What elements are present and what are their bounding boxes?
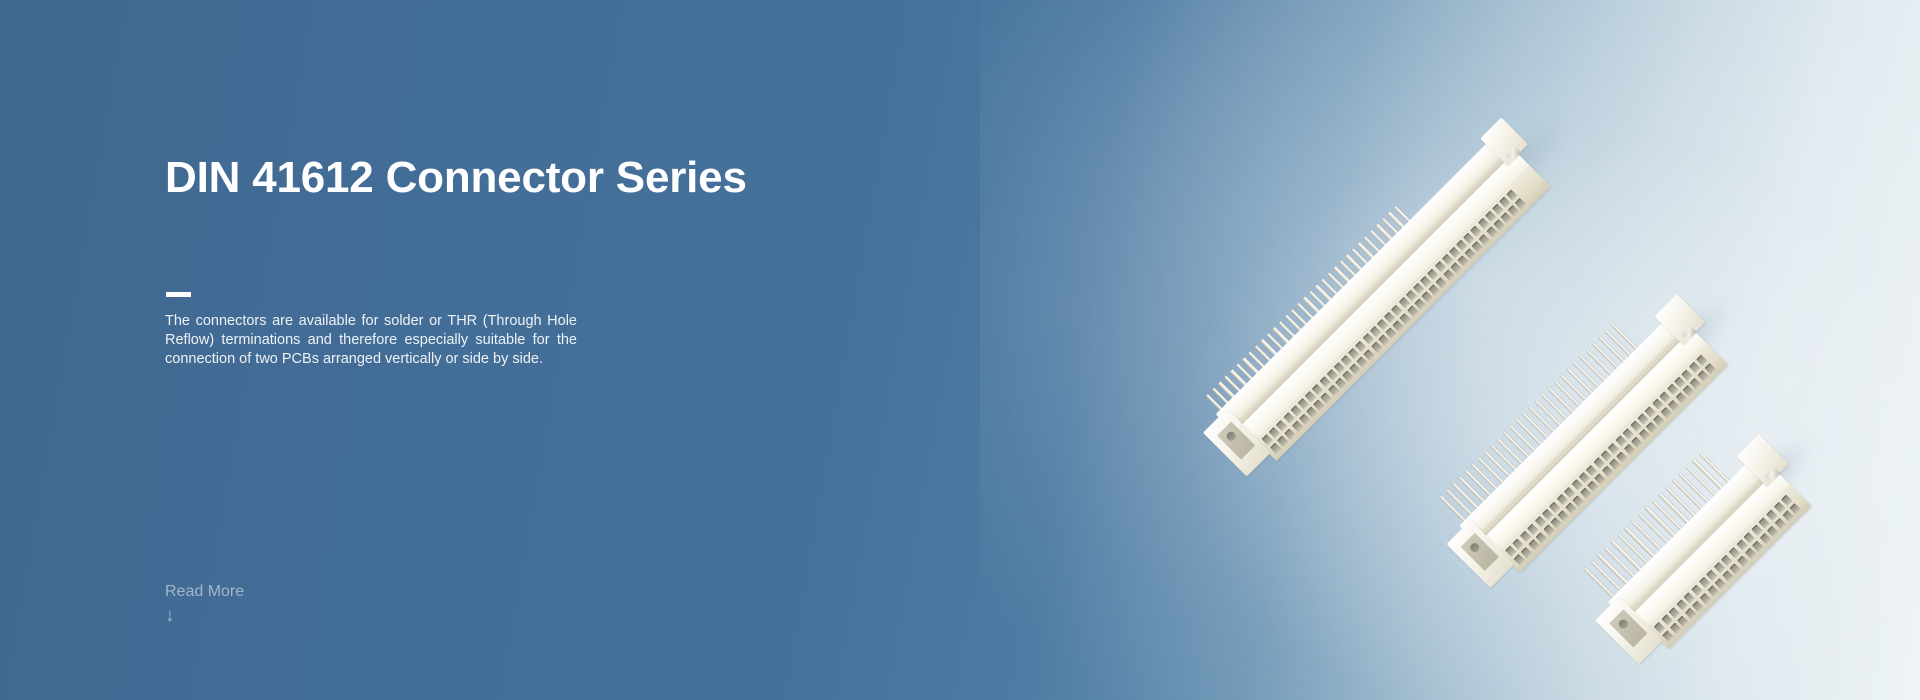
socket-hole: [1572, 495, 1583, 506]
rail-edge: [1229, 149, 1513, 433]
socket-hole: [1508, 205, 1519, 216]
socket-hole: [1661, 614, 1672, 625]
socket-hole: [1700, 593, 1711, 604]
socket-hole: [1684, 592, 1695, 603]
socket-hole: [1593, 457, 1604, 468]
socket-hole: [1543, 525, 1554, 536]
socket-hole: [1580, 488, 1591, 499]
socket-hole: [1306, 407, 1317, 418]
socket-hole: [1398, 297, 1409, 308]
socket-hole: [1299, 414, 1310, 425]
socket-hole: [1677, 615, 1688, 626]
socket-hole: [1362, 333, 1373, 344]
socket-hole: [1283, 413, 1294, 424]
socket-hole: [1312, 384, 1323, 395]
socket-hole: [1645, 406, 1656, 417]
housing-top-face: [1241, 151, 1529, 439]
socket-hole: [1615, 435, 1626, 446]
socket-hole: [1435, 261, 1446, 272]
socket-hole: [1699, 577, 1710, 588]
socket-hole: [1689, 362, 1700, 373]
socket-hole: [1685, 608, 1696, 619]
socket-hole: [1781, 495, 1792, 506]
socket-hole: [1654, 622, 1665, 633]
socket-hole: [1357, 356, 1368, 367]
socket-hole: [1393, 320, 1404, 331]
socket-hole: [1505, 546, 1516, 557]
socket-hole: [1536, 532, 1547, 543]
socket-hole: [1729, 547, 1740, 558]
socket-hole: [1662, 630, 1673, 641]
socket-hole: [1667, 384, 1678, 395]
socket-hole: [1436, 277, 1447, 288]
socket-hole: [1669, 607, 1680, 618]
socket-hole: [1696, 355, 1707, 366]
socket-hole: [1290, 405, 1301, 416]
socket-hole: [1457, 255, 1468, 266]
socket-hole: [1682, 369, 1693, 380]
socket-hole: [1406, 290, 1417, 301]
socket-hole: [1334, 362, 1345, 373]
socket-hole: [1751, 525, 1762, 536]
socket-hole: [1298, 398, 1309, 409]
socket-hole: [1507, 189, 1518, 200]
read-more-link[interactable]: Read More ↓: [165, 582, 325, 627]
socket-hole: [1674, 377, 1685, 388]
socket-hole: [1565, 503, 1576, 514]
socket-hole: [1341, 355, 1352, 366]
socket-hole: [1499, 196, 1510, 207]
socket-hole: [1730, 563, 1741, 574]
socket-hole: [1691, 585, 1702, 596]
socket-hole: [1313, 399, 1324, 410]
socket-hole: [1527, 524, 1538, 535]
hero-description: The connectors are available for solder …: [165, 312, 577, 369]
socket-hole: [1571, 479, 1582, 490]
socket-hole: [1407, 306, 1418, 317]
socket-hole: [1602, 466, 1613, 477]
socket-hole: [1646, 422, 1657, 433]
socket-hole: [1790, 503, 1801, 514]
read-more-label: Read More: [165, 582, 325, 602]
socket-hole: [1449, 247, 1460, 258]
arrow-down-icon: ↓: [165, 605, 325, 627]
socket-hole: [1456, 240, 1467, 251]
socket-hole: [1631, 436, 1642, 447]
socket-hole: [1752, 541, 1763, 552]
socket-hole: [1659, 391, 1670, 402]
socket-hole: [1707, 586, 1718, 597]
socket-hole: [1269, 427, 1280, 438]
socket-hole: [1528, 539, 1539, 550]
socket-hole: [1737, 556, 1748, 567]
socket-hole: [1535, 516, 1546, 527]
socket-hole: [1443, 270, 1454, 281]
socket-hole: [1478, 218, 1489, 229]
socket-hole: [1442, 254, 1453, 265]
socket-hole: [1579, 472, 1590, 483]
socket-hole: [1683, 385, 1694, 396]
socket-hole: [1400, 313, 1411, 324]
socket-hole: [1328, 385, 1339, 396]
socket-hole: [1630, 421, 1641, 432]
socket-hole: [1471, 225, 1482, 236]
socket-hole: [1262, 434, 1273, 445]
hero-copy: DIN 41612 Connector Series The connector…: [165, 0, 685, 700]
socket-hole: [1558, 510, 1569, 521]
socket-hole: [1377, 319, 1388, 330]
socket-hole: [1292, 421, 1303, 432]
socket-hole: [1767, 526, 1778, 537]
socket-hole: [1270, 443, 1281, 454]
socket-hole: [1586, 465, 1597, 476]
socket-hole: [1745, 548, 1756, 559]
socket-hole: [1775, 518, 1786, 529]
socket-hole: [1521, 547, 1532, 558]
socket-hole: [1319, 377, 1330, 388]
socket-hole: [1722, 571, 1733, 582]
socket-hole: [1692, 600, 1703, 611]
socket-hole: [1378, 335, 1389, 346]
socket-hole: [1472, 241, 1483, 252]
socket-hole: [1623, 428, 1634, 439]
socket-hole: [1595, 473, 1606, 484]
socket-hole: [1652, 399, 1663, 410]
socket-hole: [1371, 342, 1382, 353]
socket-hole: [1513, 538, 1524, 549]
socket-hole: [1721, 555, 1732, 566]
connector-large-housing: [1241, 151, 1551, 461]
socket-hole: [1429, 284, 1440, 295]
socket-hole: [1385, 327, 1396, 338]
socket-hole: [1617, 451, 1628, 462]
socket-hole: [1285, 428, 1296, 439]
socket-hole: [1485, 211, 1496, 222]
socket-hole: [1335, 378, 1346, 389]
socket-hole: [1514, 554, 1525, 565]
socket-hole: [1609, 459, 1620, 470]
socket-hole: [1661, 407, 1672, 418]
socket-hole: [1342, 371, 1353, 382]
socket-hole: [1782, 511, 1793, 522]
socket-hole: [1326, 369, 1337, 380]
socket-hole: [1450, 263, 1461, 274]
socket-hole: [1736, 540, 1747, 551]
page-title: DIN 41612 Connector Series: [165, 152, 747, 204]
socket-hole: [1608, 443, 1619, 454]
socket-hole: [1564, 487, 1575, 498]
socket-hole: [1639, 429, 1650, 440]
socket-hole: [1364, 349, 1375, 360]
socket-hole: [1670, 623, 1681, 634]
socket-hole: [1697, 370, 1708, 381]
socket-hole: [1668, 400, 1679, 411]
socket-hole: [1520, 531, 1531, 542]
socket-hole: [1305, 391, 1316, 402]
socket-hole: [1515, 198, 1526, 209]
socket-hole: [1549, 501, 1560, 512]
socket-hole: [1601, 450, 1612, 461]
socket-hole: [1370, 326, 1381, 337]
socket-hole: [1465, 248, 1476, 259]
hero-banner: DIN 41612 Connector Series The connector…: [0, 0, 1920, 700]
socket-hole: [1427, 268, 1438, 279]
socket-hole: [1348, 348, 1359, 359]
socket-hole: [1493, 219, 1504, 230]
socket-hole: [1277, 435, 1288, 446]
socket-hole: [1420, 276, 1431, 287]
socket-hole: [1492, 204, 1503, 215]
socket-hole: [1413, 283, 1424, 294]
socket-hole: [1384, 312, 1395, 323]
socket-hole: [1355, 340, 1366, 351]
socket-hole: [1675, 392, 1686, 403]
socket-hole: [1624, 444, 1635, 455]
socket-hole: [1550, 517, 1561, 528]
socket-hole: [1349, 363, 1360, 374]
socket-hole: [1276, 420, 1287, 431]
socket-hole: [1714, 562, 1725, 573]
title-divider: [166, 292, 191, 297]
socket-hole: [1653, 414, 1664, 425]
socket-hole: [1557, 494, 1568, 505]
socket-hole: [1486, 227, 1497, 238]
socket-hole: [1676, 599, 1687, 610]
socket-hole: [1774, 502, 1785, 513]
socket-hole: [1760, 533, 1771, 544]
socket-hole: [1744, 532, 1755, 543]
socket-hole: [1542, 509, 1553, 520]
socket-hole: [1690, 378, 1701, 389]
socket-hole: [1637, 413, 1648, 424]
socket-hole: [1705, 363, 1716, 374]
connector-large-rail: [1216, 136, 1513, 433]
product-image: [1150, 60, 1850, 620]
socket-hole: [1479, 234, 1490, 245]
socket-hole: [1501, 212, 1512, 223]
socket-hole: [1321, 392, 1332, 403]
socket-hole: [1463, 232, 1474, 243]
socket-hole: [1391, 304, 1402, 315]
socket-hole: [1414, 299, 1425, 310]
socket-hole: [1715, 578, 1726, 589]
socket-hole: [1766, 510, 1777, 521]
socket-hole: [1421, 291, 1432, 302]
socket-hole: [1706, 570, 1717, 581]
socket-hole: [1587, 481, 1598, 492]
socket-hole: [1759, 517, 1770, 528]
